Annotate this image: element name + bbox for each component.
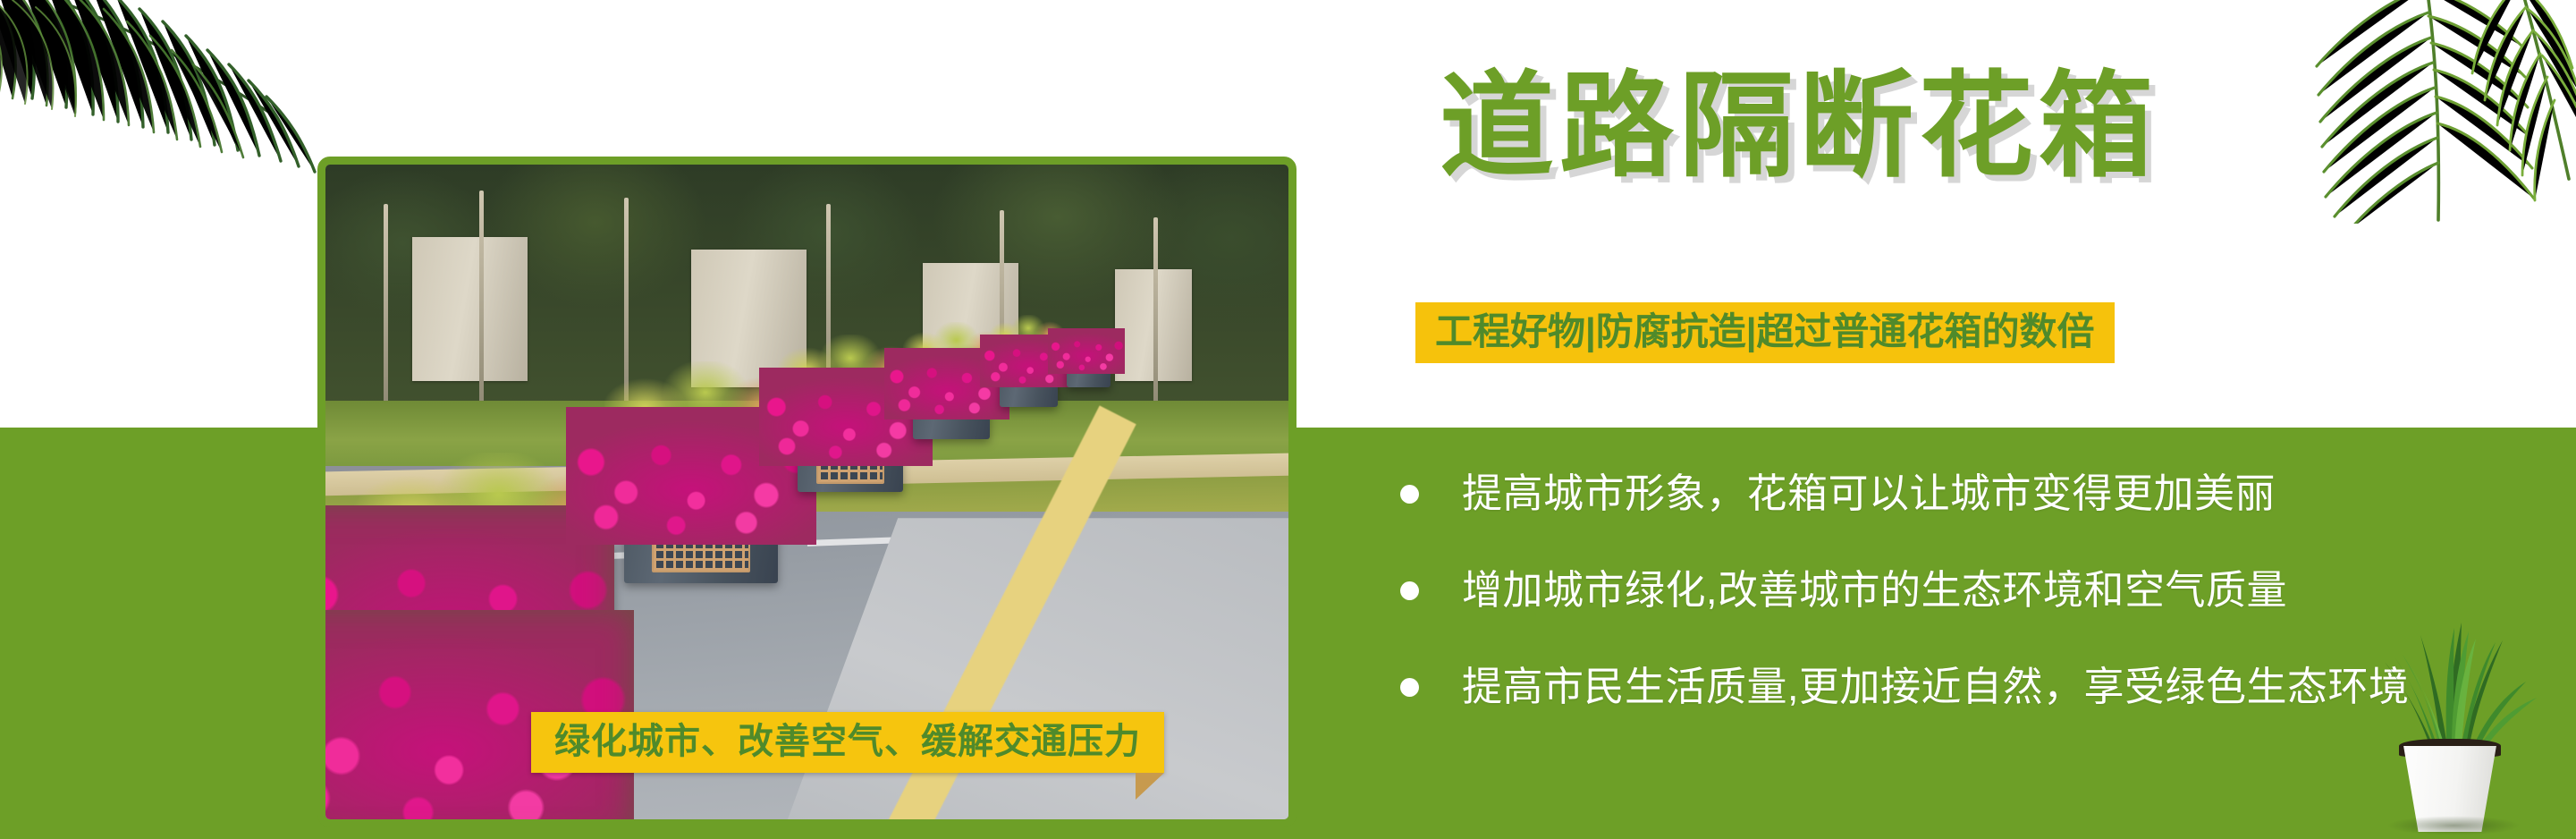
photo-tree-trunk (384, 204, 388, 413)
photo-tree-trunk (479, 191, 484, 413)
plant-shadow (2386, 816, 2521, 835)
palm-leaf-icon (0, 0, 331, 197)
promotional-banner: 绿化城市、改善空气、缓解交通压力 道路隔断花箱 工程好物|防腐抗造|超过普通花箱… (0, 0, 2576, 839)
list-item-label: 增加城市绿化,改善城市的生态环境和空气质量 (1462, 568, 2287, 613)
photo-tree-trunk (1153, 217, 1158, 414)
list-item-label: 提高市民生活质量,更加接近自然，享受绿色生态环境 (1462, 665, 2410, 709)
photo-caption-ribbon: 绿化城市、改善空气、缓解交通压力 (531, 712, 1164, 773)
list-item-label: 提高城市形象，花箱可以让城市变得更加美丽 (1462, 471, 2276, 516)
subtitle-text: 工程好物|防腐抗造|超过普通花箱的数倍 (1435, 313, 2095, 351)
product-photo: 绿化城市、改善空气、缓解交通压力 (317, 157, 1296, 827)
content-column: 道路隔断花箱 工程好物|防腐抗造|超过普通花箱的数倍 提高城市形象，花箱可以让城… (1350, 0, 2576, 839)
page-title: 道路隔断花箱 (1440, 70, 2158, 184)
bullet-dot-icon (1400, 678, 1419, 697)
list-item: 提高城市形象，花箱可以让城市变得更加美丽 (1397, 445, 2576, 542)
subtitle-badge: 工程好物|防腐抗造|超过普通花箱的数倍 (1415, 302, 2115, 363)
potted-plant-icon (2345, 615, 2551, 839)
planter-flowers (1048, 328, 1125, 374)
photo-decor-panel (412, 237, 528, 381)
bullet-dot-icon (1400, 581, 1419, 600)
photo-caption-text: 绿化城市、改善空气、缓解交通压力 (554, 724, 1141, 759)
ribbon-fold-decor (1136, 773, 1164, 800)
bullet-dot-icon (1400, 485, 1419, 504)
